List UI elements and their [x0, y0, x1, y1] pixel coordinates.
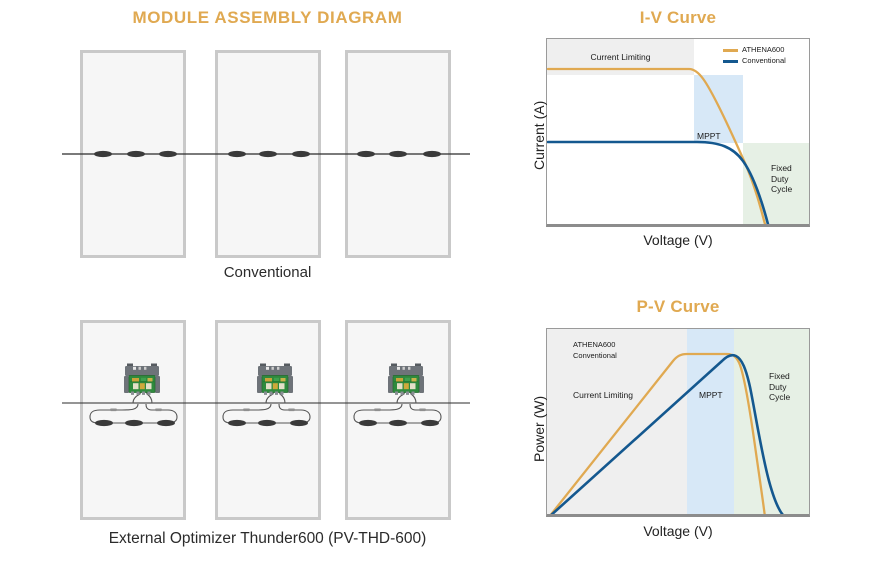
pv-y-axis-label: Power (W) — [531, 396, 547, 462]
iv-label-mppt: MPPT — [697, 131, 721, 142]
pv-chart: ATHENA600 Conventional Current Limiting … — [546, 328, 810, 517]
panel-conventional-1 — [80, 50, 186, 258]
panel-optimizer-1 — [80, 320, 186, 520]
conventional-caption: Conventional — [0, 264, 535, 281]
iv-legend-entry-athena600: ATHENA600 — [723, 45, 786, 56]
panel-optimizer-3 — [345, 320, 451, 520]
pv-label-fixed-duty-cycle: Fixed Duty Cycle — [769, 371, 790, 403]
iv-legend-entry-conventional: Conventional — [723, 56, 786, 67]
iv-legend-label-athena600: ATHENA600 — [742, 45, 784, 56]
panel-conventional-3 — [345, 50, 451, 258]
iv-series-conventional — [548, 142, 769, 227]
iv-label-fixed-duty-cycle: Fixed Duty Cycle — [771, 163, 792, 195]
legend-line-icon-athena600 — [723, 49, 738, 52]
pv-series-conventional — [549, 355, 785, 517]
pv-legend-label-conventional: Conventional — [573, 350, 617, 361]
optimizer-caption: External Optimizer Thunder600 (PV-THD-60… — [0, 530, 535, 548]
panel-conventional-2 — [215, 50, 321, 258]
iv-x-axis-label: Voltage (V) — [546, 232, 810, 248]
pv-legend: ATHENA600 Conventional — [573, 339, 617, 362]
pv-label-current-limiting: Current Limiting — [573, 390, 633, 401]
iv-curves — [547, 39, 810, 227]
legend-line-icon-conventional — [723, 60, 738, 63]
iv-label-current-limiting: Current Limiting — [547, 52, 694, 63]
page-title: MODULE ASSEMBLY DIAGRAM — [0, 8, 535, 28]
iv-legend: ATHENA600 Conventional — [723, 45, 786, 67]
page-root: MODULE ASSEMBLY DIAGRAM Conventional Ext… — [0, 0, 890, 562]
iv-series-athena600 — [548, 69, 766, 227]
pv-legend-label-athena600: ATHENA600 — [573, 339, 617, 350]
iv-y-axis-label: Current (A) — [531, 101, 547, 170]
pv-x-axis-label: Voltage (V) — [546, 523, 810, 539]
pv-series-athena600 — [549, 354, 765, 517]
iv-legend-label-conventional: Conventional — [742, 56, 786, 67]
iv-chart: Current Limiting MPPT Fixed Duty Cycle A… — [546, 38, 810, 227]
panel-optimizer-2 — [215, 320, 321, 520]
iv-chart-title: I-V Curve — [546, 8, 810, 28]
pv-label-mppt: MPPT — [699, 390, 723, 401]
pv-chart-title: P-V Curve — [546, 297, 810, 317]
